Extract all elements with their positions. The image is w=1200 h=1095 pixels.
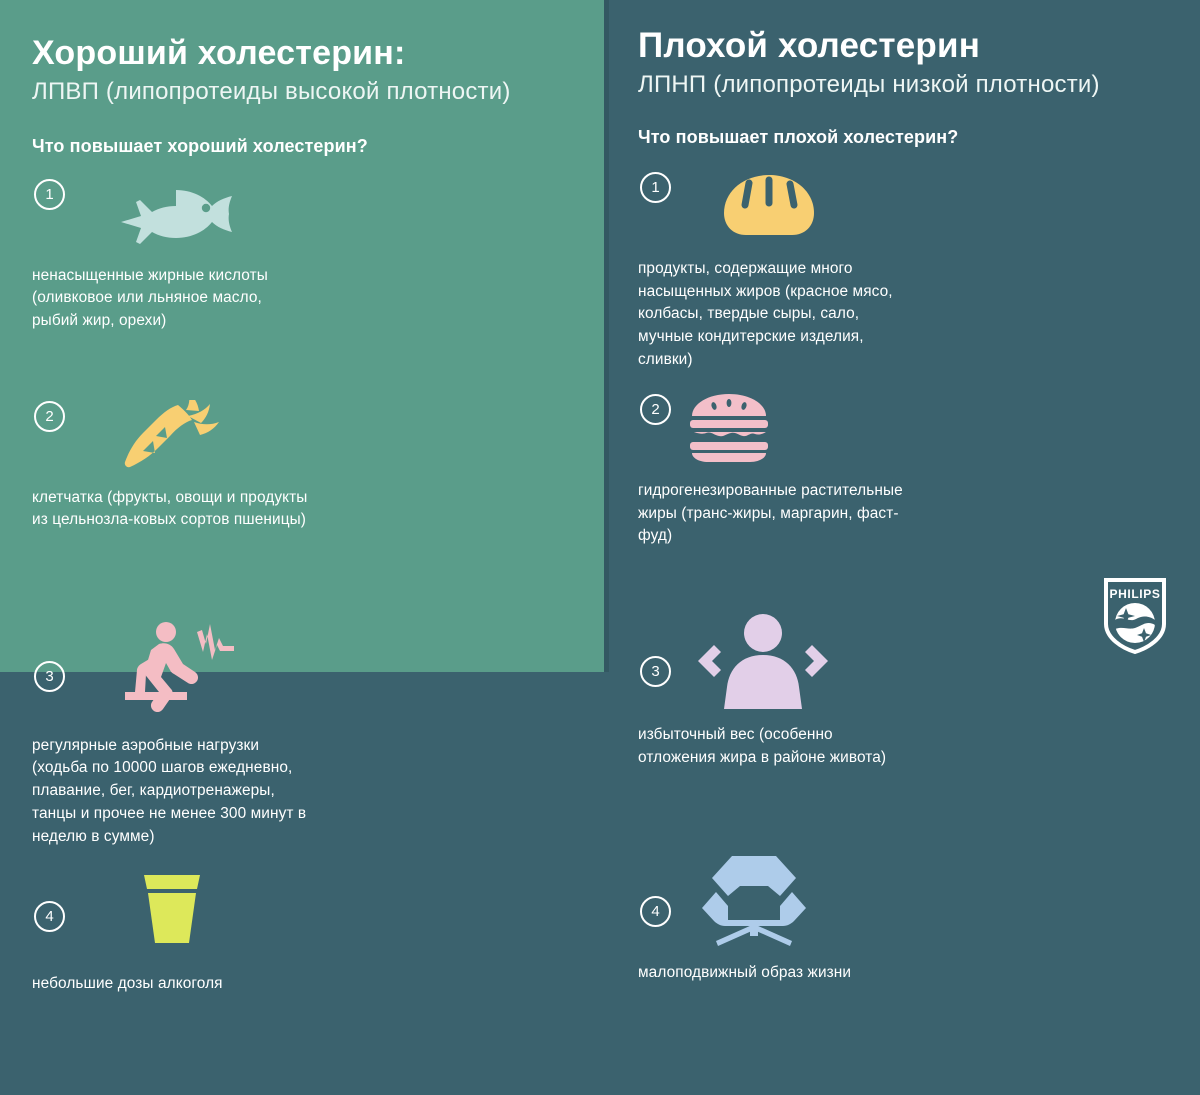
good-item-3: 3 регулярные аэробные нагрузки (ходьба п… bbox=[32, 615, 326, 855]
bad-item-4: 4 малоподвижный образ жизни bbox=[638, 846, 922, 1086]
burger-icon bbox=[638, 384, 922, 472]
bad-panel-subtitle: ЛПНП (липопротеиды низкой плотности) bbox=[638, 71, 1172, 99]
good-panel-title: Хороший холестерин: bbox=[32, 34, 574, 72]
good-panel-subtitle: ЛПВП (липопротеиды высокой плотности) bbox=[32, 78, 574, 106]
bad-panel-question: Что повышает плохой холестерин? bbox=[638, 127, 1172, 148]
good-item-2: 2 клетчатка (фрукты, овощи и продукты из… bbox=[32, 393, 326, 615]
bad-cholesterol-panel: Плохой холестерин ЛПНП (липопротеиды низ… bbox=[604, 0, 1200, 672]
glass-icon bbox=[32, 855, 326, 963]
item-number-badge: 3 bbox=[640, 656, 671, 687]
bad-item-3: 3 избыточный вес (особенно отложения жир… bbox=[638, 606, 922, 846]
fish-icon bbox=[32, 171, 326, 257]
bad-panel-title: Плохой холестерин bbox=[638, 26, 1172, 65]
item-number-badge: 2 bbox=[34, 401, 65, 432]
bad-item-1: 1 продукты, содержащие много насыщенных … bbox=[638, 162, 922, 384]
good-item-4-text: небольшие дозы алкоголя bbox=[32, 973, 326, 996]
armchair-icon bbox=[638, 846, 922, 954]
cholesterol-infographic: Хороший холестерин: ЛПВП (липопротеиды в… bbox=[0, 0, 1200, 672]
bad-item-2-text: гидрогенезированные растительные жиры (т… bbox=[638, 480, 922, 548]
good-item-1: 1 ненасыщенные жирные кислоты (оливковое… bbox=[32, 171, 326, 393]
bad-items-grid: 1 продукты, содержащие много насыщенных … bbox=[638, 162, 1172, 1086]
good-panel-question: Что повышает хороший холестерин? bbox=[32, 136, 574, 157]
bad-item-2: 2 bbox=[638, 384, 922, 606]
item-number-badge: 3 bbox=[34, 661, 65, 692]
good-items-grid: 1 ненасыщенные жирные кислоты (оливковое… bbox=[32, 171, 574, 1095]
good-item-1-text: ненасыщенные жирные кислоты (оливковое и… bbox=[32, 265, 326, 333]
item-number-badge: 4 bbox=[640, 896, 671, 927]
philips-logo: PHILIPS bbox=[1104, 578, 1166, 654]
overweight-person-icon bbox=[638, 606, 922, 716]
bread-icon bbox=[638, 162, 922, 250]
good-item-2-text: клетчатка (фрукты, овощи и продукты из ц… bbox=[32, 487, 326, 533]
good-item-4: 4 небольшие дозы алкоголя bbox=[32, 855, 326, 1095]
philips-wordmark: PHILIPS bbox=[1110, 587, 1161, 601]
item-number-badge: 2 bbox=[640, 394, 671, 425]
item-number-badge: 1 bbox=[640, 172, 671, 203]
treadmill-icon bbox=[32, 615, 326, 725]
bad-item-4-text: малоподвижный образ жизни bbox=[638, 962, 922, 985]
good-cholesterol-panel: Хороший холестерин: ЛПВП (липопротеиды в… bbox=[0, 0, 604, 672]
bad-item-1-text: продукты, содержащие много насыщенных жи… bbox=[638, 258, 922, 372]
item-number-badge: 1 bbox=[34, 179, 65, 210]
bad-item-3-text: избыточный вес (особенно отложения жира … bbox=[638, 724, 922, 770]
carrot-icon bbox=[32, 393, 326, 479]
good-item-3-text: регулярные аэробные нагрузки (ходьба по … bbox=[32, 735, 326, 849]
item-number-badge: 4 bbox=[34, 901, 65, 932]
